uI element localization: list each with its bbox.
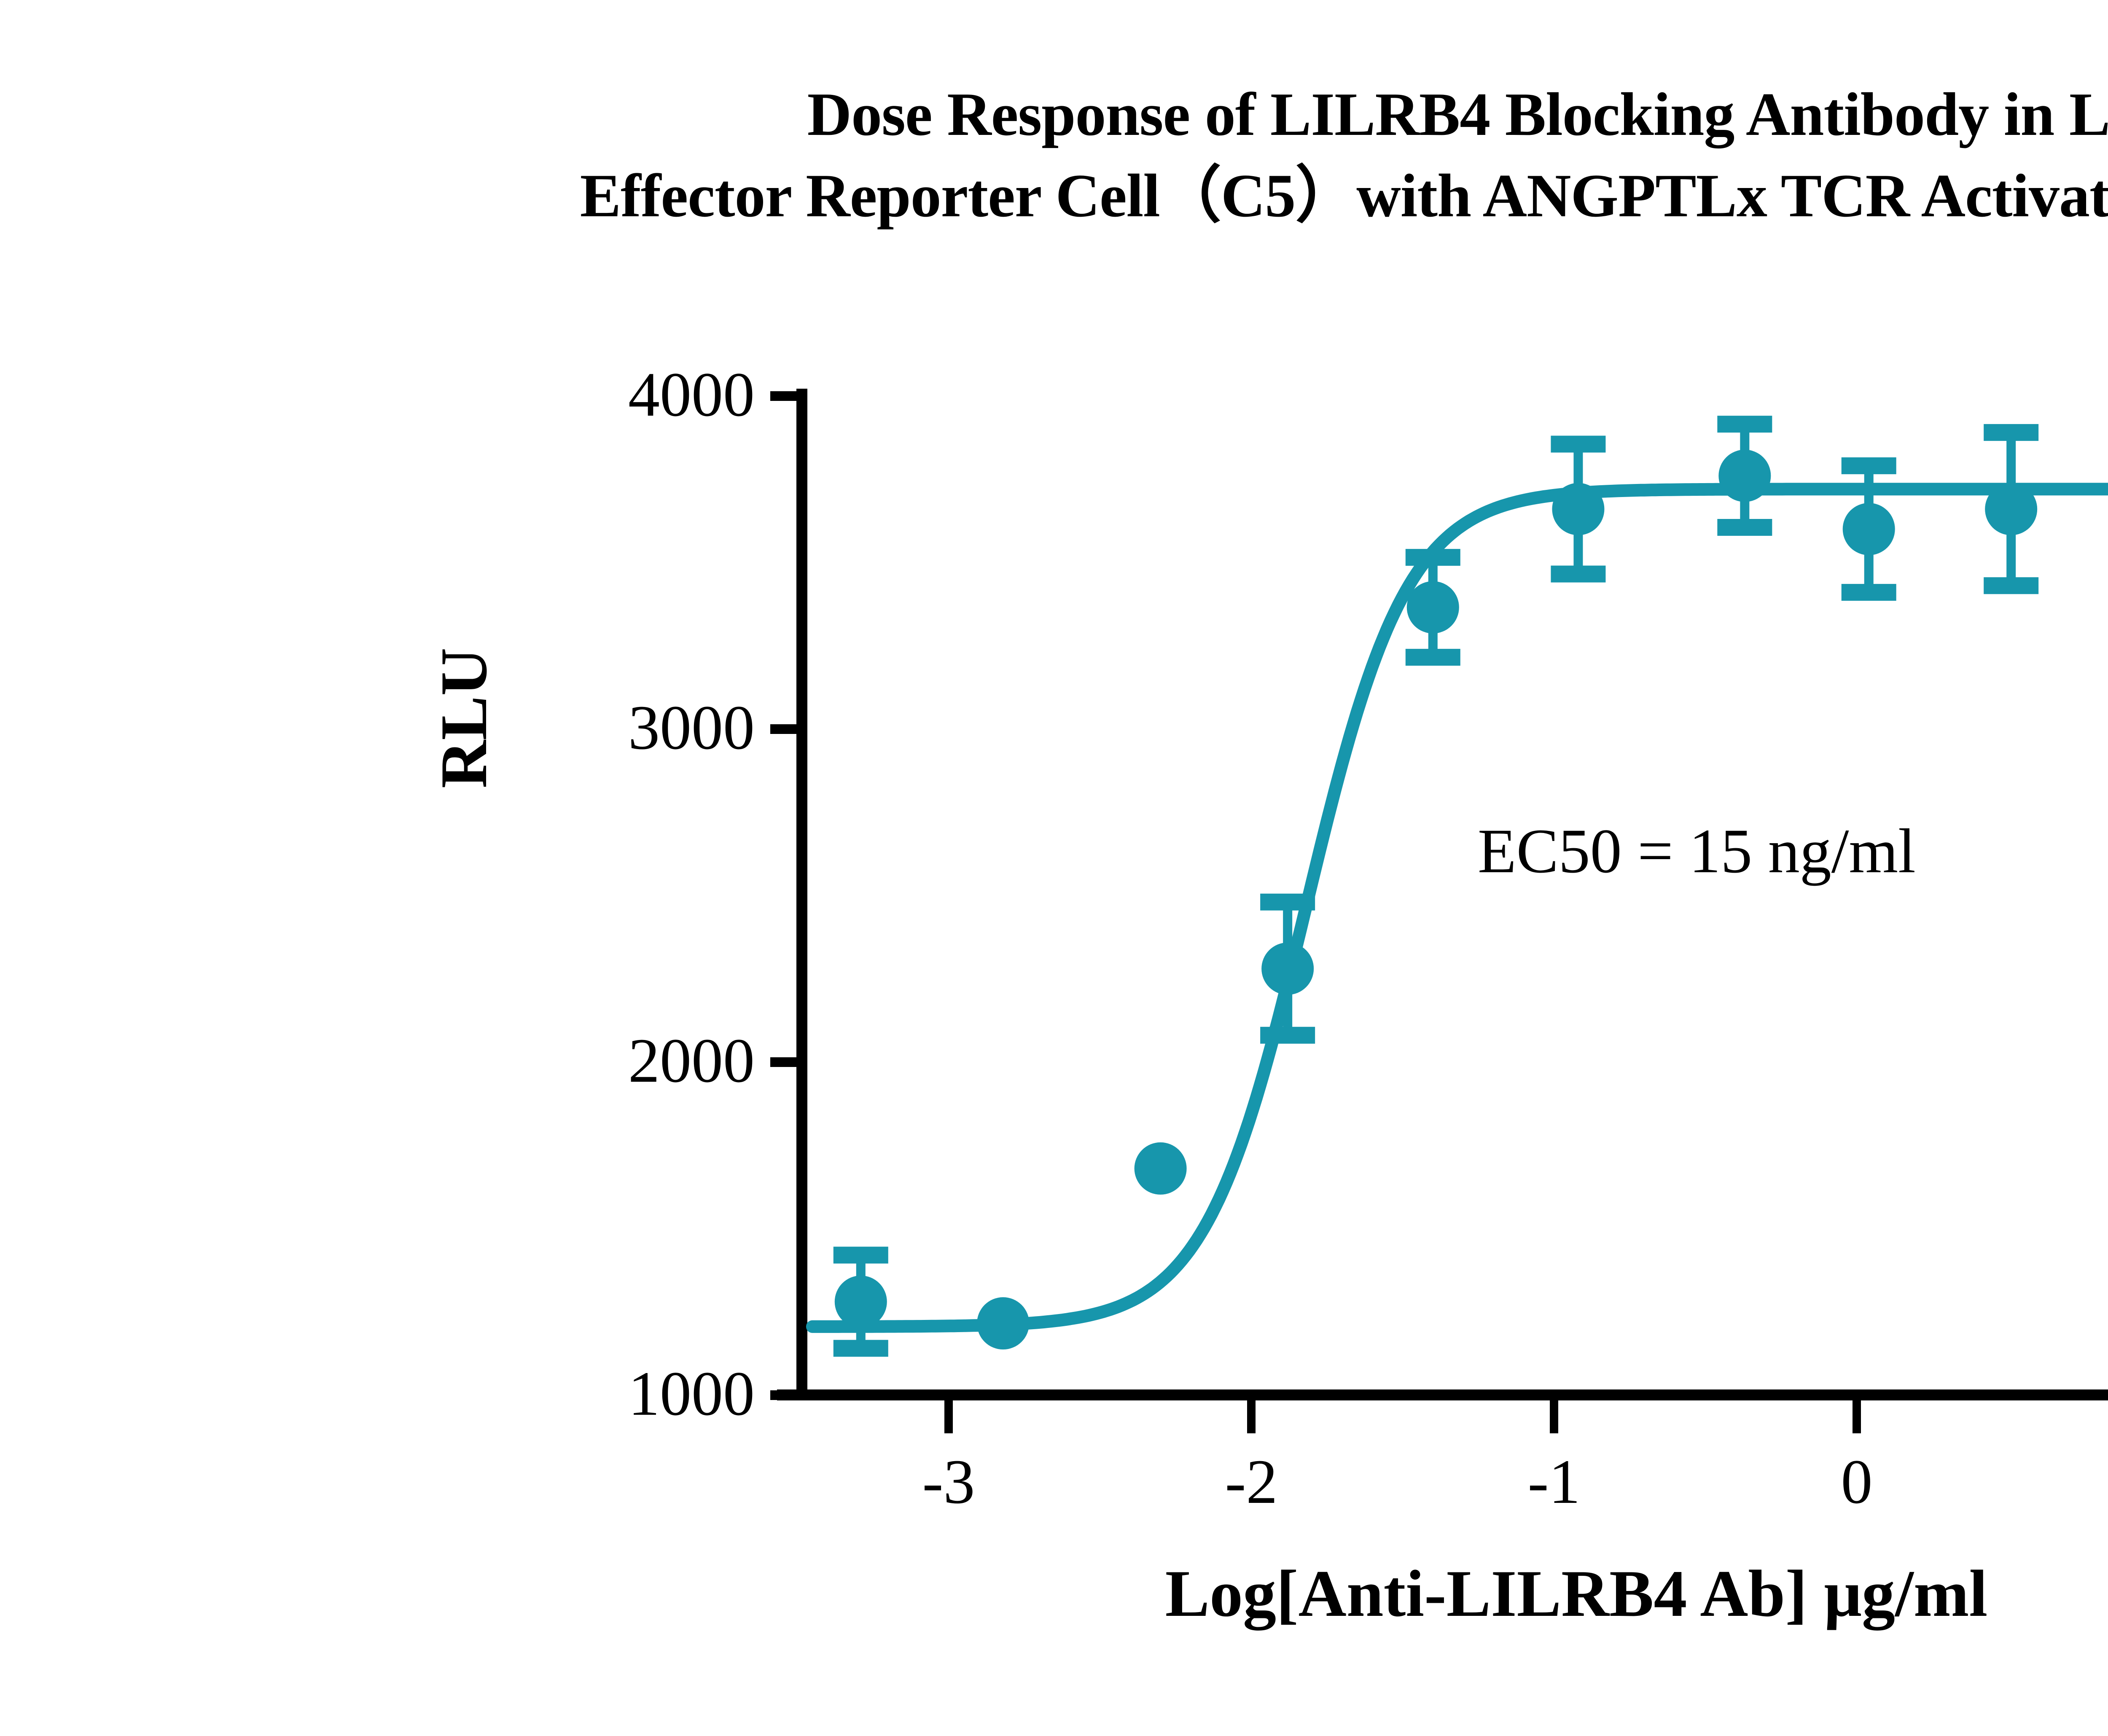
x-tick <box>1247 1400 1256 1433</box>
x-tick <box>944 1400 953 1433</box>
data-point-marker <box>1135 1142 1187 1195</box>
y-tick <box>770 724 796 734</box>
y-tick <box>770 391 796 401</box>
x-tick-label: -1 <box>1470 1450 1638 1513</box>
x-tick-label: -3 <box>864 1450 1033 1513</box>
data-point-marker <box>1843 503 1895 555</box>
x-tick-label: 0 <box>1772 1450 1941 1513</box>
figure-root: Dose Response of LILRB4 Blocking Antibod… <box>0 0 2108 1736</box>
chart-title-line-2: Effector Reporter Cell（C5）with ANGPTLx T… <box>0 155 2108 236</box>
data-points <box>835 436 2108 1349</box>
x-axis-title: Log[Anti-LILRB4 Ab] μg/ml <box>796 1556 2108 1632</box>
data-point-marker <box>1407 581 1459 634</box>
y-tick-label: 1000 <box>519 1362 755 1425</box>
data-point-marker <box>1552 483 1604 535</box>
y-tick-label: 3000 <box>519 696 755 759</box>
chart-title-line-1: Dose Response of LILRB4 Blocking Antibod… <box>0 74 2108 155</box>
x-tick-label: -2 <box>1167 1450 1336 1513</box>
error-bars <box>834 416 2108 1348</box>
y-tick-label: 4000 <box>519 363 755 426</box>
data-point-marker <box>835 1276 887 1328</box>
y-axis-title: RLU <box>426 648 503 788</box>
ec50-annotation: EC50 = 15 ng/ml <box>1478 815 1916 887</box>
data-point-marker <box>1261 943 1314 995</box>
chart-title: Dose Response of LILRB4 Blocking Antibod… <box>0 74 2108 236</box>
data-point-marker <box>1985 483 2037 535</box>
x-tick <box>1550 1400 1558 1433</box>
x-axis-spine <box>777 1389 2108 1400</box>
y-axis-spine <box>796 389 807 1396</box>
y-tick <box>770 1390 796 1400</box>
y-tick <box>770 1057 796 1067</box>
fit-curve <box>812 489 2108 1327</box>
data-point-marker <box>977 1297 1029 1349</box>
x-tick-label: 1 <box>2075 1450 2108 1513</box>
x-tick <box>1853 1400 1861 1433</box>
fit-curve-path <box>812 489 2108 1327</box>
y-tick-label: 2000 <box>519 1029 755 1092</box>
data-point-marker <box>1718 450 1771 502</box>
